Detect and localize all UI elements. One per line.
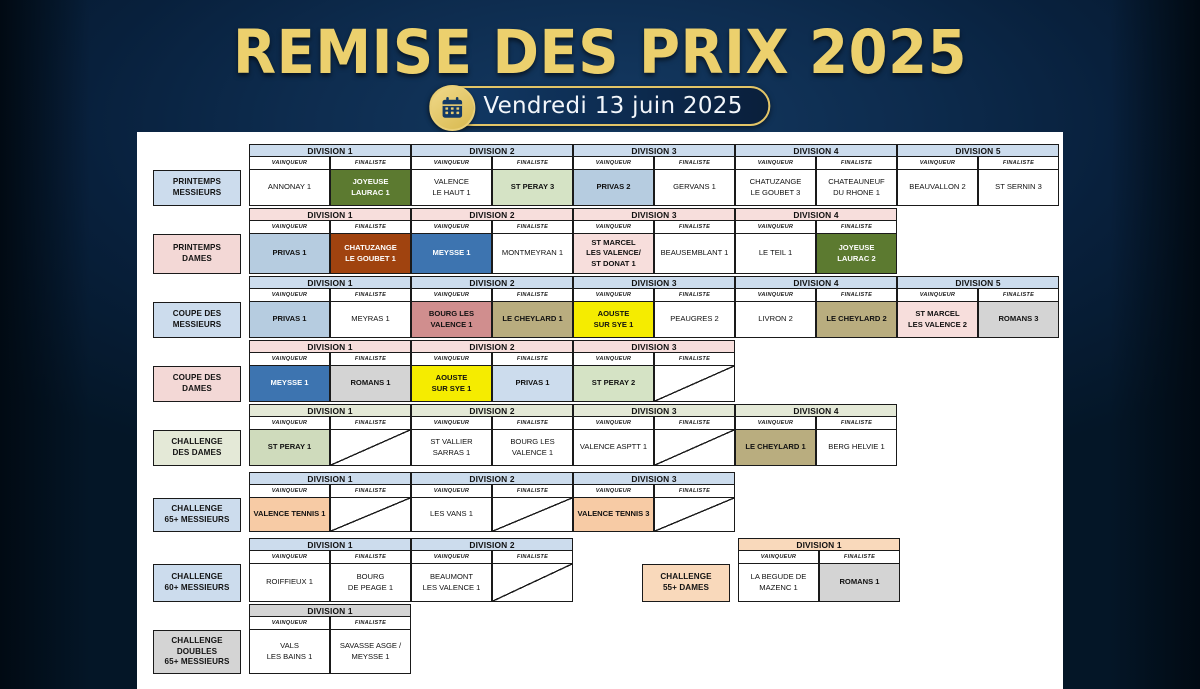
finaliste-header: FINALISTE	[492, 485, 573, 498]
finalist-cell: MONTMEYRAN 1	[492, 234, 573, 274]
category-label: CHALLENGE55+ DAMES	[642, 564, 730, 602]
finaliste-header: FINALISTE	[330, 221, 411, 234]
division-header: DIVISION 3	[573, 276, 735, 289]
winner-cell: LA BEGUDE DEMAZENC 1	[738, 564, 819, 602]
winner-cell: BEAUMONTLES VALENCE 1	[411, 564, 492, 602]
winner-cell: CHATUZANGELE GOUBET 3	[735, 170, 816, 206]
finaliste-header: FINALISTE	[330, 353, 411, 366]
category-label: PRINTEMPSDAMES	[153, 234, 241, 274]
finaliste-header: FINALISTE	[978, 157, 1059, 170]
finalist-cell	[654, 430, 735, 466]
division-grid: DIVISION 1VAINQUEURFINALISTELA BEGUDE DE…	[738, 538, 900, 602]
category-label-text: CHALLENGE55+ DAMES	[660, 572, 711, 593]
vainqueur-header: VAINQUEUR	[411, 157, 492, 170]
vainqueur-header: VAINQUEUR	[249, 289, 330, 302]
winner-cell: VALENCELE HAUT 1	[411, 170, 492, 206]
category-label-text: CHALLENGEDES DAMES	[171, 437, 222, 458]
division-grid: DIVISION 1VAINQUEURFINALISTEVALSLES BAIN…	[249, 604, 411, 674]
division-header: DIVISION 1	[249, 208, 411, 221]
division-header: DIVISION 3	[573, 208, 735, 221]
category-label: COUPE DESDAMES	[153, 366, 241, 402]
vainqueur-header: VAINQUEUR	[573, 353, 654, 366]
finalist-cell: ROMANS 1	[819, 564, 900, 602]
background-vignette-left	[0, 0, 90, 689]
division-grid: DIVISION 1DIVISION 2DIVISION 3DIVISION 4…	[249, 208, 897, 274]
vainqueur-header: VAINQUEUR	[897, 157, 978, 170]
division-header: DIVISION 2	[411, 276, 573, 289]
finaliste-header: FINALISTE	[654, 353, 735, 366]
category-label-text: CHALLENGE65+ MESSIEURS	[165, 504, 230, 525]
winner-cell: PRIVAS 1	[249, 234, 330, 274]
finaliste-header: FINALISTE	[492, 417, 573, 430]
winner-cell: LE CHEYLARD 1	[735, 430, 816, 466]
finalist-cell: BOURGDE PEAGE 1	[330, 564, 411, 602]
division-header: DIVISION 3	[573, 144, 735, 157]
vainqueur-header: VAINQUEUR	[249, 417, 330, 430]
finaliste-header: FINALISTE	[978, 289, 1059, 302]
winner-cell: LE TEIL 1	[735, 234, 816, 274]
division-grid: DIVISION 1DIVISION 2DIVISION 3VAINQUEURF…	[249, 472, 735, 532]
winner-cell: VALENCE TENNIS 1	[249, 498, 330, 532]
division-header: DIVISION 1	[249, 276, 411, 289]
finalist-cell	[654, 498, 735, 532]
winner-cell: ROIFFIEUX 1	[249, 564, 330, 602]
finaliste-header: FINALISTE	[330, 617, 411, 630]
division-header: DIVISION 2	[411, 538, 573, 551]
results-board: PRINTEMPSMESSIEURSDIVISION 1DIVISION 2DI…	[137, 132, 1063, 689]
division-grid: DIVISION 1DIVISION 2DIVISION 3DIVISION 4…	[249, 144, 1059, 206]
category-label: PRINTEMPSMESSIEURS	[153, 170, 241, 206]
winner-cell: PRIVAS 1	[249, 302, 330, 338]
date-badge: Vendredi 13 juin 2025	[429, 86, 770, 126]
finalist-cell: PRIVAS 1	[492, 366, 573, 402]
finaliste-header: FINALISTE	[816, 417, 897, 430]
vainqueur-header: VAINQUEUR	[411, 417, 492, 430]
calendar-icon	[429, 85, 475, 131]
division-header: DIVISION 4	[735, 144, 897, 157]
event-date: Vendredi 13 juin 2025	[483, 93, 742, 119]
winner-cell: ANNONAY 1	[249, 170, 330, 206]
finaliste-header: FINALISTE	[816, 157, 897, 170]
finaliste-header: FINALISTE	[654, 417, 735, 430]
vainqueur-header: VAINQUEUR	[735, 417, 816, 430]
winner-cell: ST MARCELLES VALENCE/ST DONAT 1	[573, 234, 654, 274]
finalist-cell: MEYRAS 1	[330, 302, 411, 338]
finaliste-header: FINALISTE	[330, 551, 411, 564]
finaliste-header: FINALISTE	[654, 485, 735, 498]
category-label-text: COUPE DESDAMES	[173, 373, 222, 394]
division-header: DIVISION 2	[411, 144, 573, 157]
vainqueur-header: VAINQUEUR	[411, 221, 492, 234]
finaliste-header: FINALISTE	[819, 551, 900, 564]
finalist-cell: SAVASSE ASGE /MEYSSE 1	[330, 630, 411, 674]
category-label: CHALLENGEDOUBLES65+ MESSIEURS	[153, 630, 241, 674]
finalist-cell: LE CHEYLARD 1	[492, 302, 573, 338]
finaliste-header: FINALISTE	[654, 221, 735, 234]
vainqueur-header: VAINQUEUR	[573, 289, 654, 302]
category-label-text: CHALLENGEDOUBLES65+ MESSIEURS	[165, 636, 230, 668]
finaliste-header: FINALISTE	[654, 289, 735, 302]
finalist-cell: ROMANS 3	[978, 302, 1059, 338]
winner-cell: LIVRON 2	[735, 302, 816, 338]
finalist-cell	[492, 498, 573, 532]
division-header: DIVISION 2	[411, 404, 573, 417]
division-header: DIVISION 2	[411, 208, 573, 221]
division-header: DIVISION 4	[735, 276, 897, 289]
vainqueur-header: VAINQUEUR	[897, 289, 978, 302]
division-header: DIVISION 2	[411, 472, 573, 485]
division-grid: DIVISION 1DIVISION 2DIVISION 3DIVISION 4…	[249, 404, 897, 466]
category-label-text: COUPE DESMESSIEURS	[173, 309, 222, 330]
vainqueur-header: VAINQUEUR	[249, 617, 330, 630]
vainqueur-header: VAINQUEUR	[411, 289, 492, 302]
winner-cell: ST VALLIERSARRAS 1	[411, 430, 492, 466]
division-header: DIVISION 4	[735, 208, 897, 221]
winner-cell: PRIVAS 2	[573, 170, 654, 206]
category-label: CHALLENGEDES DAMES	[153, 430, 241, 466]
finalist-cell: BOURG LESVALENCE 1	[492, 430, 573, 466]
finalist-cell: BEAUSEMBLANT 1	[654, 234, 735, 274]
division-grid: DIVISION 1DIVISION 2DIVISION 3VAINQUEURF…	[249, 340, 735, 402]
division-header: DIVISION 3	[573, 404, 735, 417]
finalist-cell: GERVANS 1	[654, 170, 735, 206]
vainqueur-header: VAINQUEUR	[249, 157, 330, 170]
finaliste-header: FINALISTE	[330, 157, 411, 170]
finaliste-header: FINALISTE	[492, 353, 573, 366]
winner-cell: ST PERAY 2	[573, 366, 654, 402]
background-vignette-right	[1110, 0, 1200, 689]
finaliste-header: FINALISTE	[330, 417, 411, 430]
winner-cell: VALENCE ASPTT 1	[573, 430, 654, 466]
division-header: DIVISION 3	[573, 472, 735, 485]
finalist-cell: LE CHEYLARD 2	[816, 302, 897, 338]
division-header: DIVISION 5	[897, 144, 1059, 157]
header: REMISE DES PRIX 2025	[0, 0, 1200, 83]
vainqueur-header: VAINQUEUR	[735, 289, 816, 302]
winner-cell: BEAUVALLON 2	[897, 170, 978, 206]
finalist-cell: ROMANS 1	[330, 366, 411, 402]
division-header: DIVISION 3	[573, 340, 735, 353]
winner-cell: LES VANS 1	[411, 498, 492, 532]
category-label: CHALLENGE60+ MESSIEURS	[153, 564, 241, 602]
vainqueur-header: VAINQUEUR	[573, 157, 654, 170]
division-header: DIVISION 1	[249, 604, 411, 617]
finaliste-header: FINALISTE	[330, 289, 411, 302]
finaliste-header: FINALISTE	[492, 551, 573, 564]
vainqueur-header: VAINQUEUR	[249, 221, 330, 234]
vainqueur-header: VAINQUEUR	[573, 417, 654, 430]
division-header: DIVISION 1	[249, 340, 411, 353]
category-label: COUPE DESMESSIEURS	[153, 302, 241, 338]
finalist-cell	[654, 366, 735, 402]
division-header: DIVISION 1	[249, 538, 411, 551]
page-title: REMISE DES PRIX 2025	[0, 22, 1200, 83]
vainqueur-header: VAINQUEUR	[735, 157, 816, 170]
winner-cell: BOURG LESVALENCE 1	[411, 302, 492, 338]
finalist-cell: CHATUZANGELE GOUBET 1	[330, 234, 411, 274]
vainqueur-header: VAINQUEUR	[249, 353, 330, 366]
winner-cell: VALSLES BAINS 1	[249, 630, 330, 674]
vainqueur-header: VAINQUEUR	[573, 485, 654, 498]
vainqueur-header: VAINQUEUR	[738, 551, 819, 564]
category-label-text: CHALLENGE60+ MESSIEURS	[165, 572, 230, 593]
division-grid: DIVISION 1DIVISION 2VAINQUEURFINALISTEVA…	[249, 538, 573, 602]
finalist-cell: CHATEAUNEUFDU RHONE 1	[816, 170, 897, 206]
winner-cell: VALENCE TENNIS 3	[573, 498, 654, 532]
division-header: DIVISION 4	[735, 404, 897, 417]
division-header: DIVISION 1	[249, 404, 411, 417]
division-header: DIVISION 5	[897, 276, 1059, 289]
finalist-cell	[330, 498, 411, 532]
category-label: CHALLENGE65+ MESSIEURS	[153, 498, 241, 532]
winner-cell: ST PERAY 1	[249, 430, 330, 466]
division-header: DIVISION 1	[249, 144, 411, 157]
date-pill: Vendredi 13 juin 2025	[429, 86, 770, 126]
winner-cell: MEYSSE 1	[411, 234, 492, 274]
finalist-cell: ST PERAY 3	[492, 170, 573, 206]
finalist-cell: ST SERNIN 3	[978, 170, 1059, 206]
vainqueur-header: VAINQUEUR	[411, 551, 492, 564]
finaliste-header: FINALISTE	[492, 289, 573, 302]
finalist-cell	[330, 430, 411, 466]
vainqueur-header: VAINQUEUR	[411, 353, 492, 366]
winner-cell: AOUSTESUR SYE 1	[411, 366, 492, 402]
finalist-cell: JOYEUSELAURAC 2	[816, 234, 897, 274]
vainqueur-header: VAINQUEUR	[735, 221, 816, 234]
vainqueur-header: VAINQUEUR	[573, 221, 654, 234]
finalist-cell	[492, 564, 573, 602]
winner-cell: AOUSTESUR SYE 1	[573, 302, 654, 338]
finaliste-header: FINALISTE	[492, 157, 573, 170]
vainqueur-header: VAINQUEUR	[411, 485, 492, 498]
finalist-cell: PEAUGRES 2	[654, 302, 735, 338]
division-header: DIVISION 1	[249, 472, 411, 485]
division-header: DIVISION 2	[411, 340, 573, 353]
finaliste-header: FINALISTE	[816, 289, 897, 302]
division-header: DIVISION 1	[738, 538, 900, 551]
finaliste-header: FINALISTE	[330, 485, 411, 498]
finaliste-header: FINALISTE	[492, 221, 573, 234]
category-label-text: PRINTEMPSMESSIEURS	[173, 177, 222, 198]
finalist-cell: BERG HELVIE 1	[816, 430, 897, 466]
winner-cell: ST MARCELLES VALENCE 2	[897, 302, 978, 338]
category-label-text: PRINTEMPSDAMES	[173, 243, 221, 264]
finaliste-header: FINALISTE	[816, 221, 897, 234]
vainqueur-header: VAINQUEUR	[249, 485, 330, 498]
finalist-cell: JOYEUSELAURAC 1	[330, 170, 411, 206]
vainqueur-header: VAINQUEUR	[249, 551, 330, 564]
winner-cell: MEYSSE 1	[249, 366, 330, 402]
division-grid: DIVISION 1DIVISION 2DIVISION 3DIVISION 4…	[249, 276, 1059, 338]
finaliste-header: FINALISTE	[654, 157, 735, 170]
